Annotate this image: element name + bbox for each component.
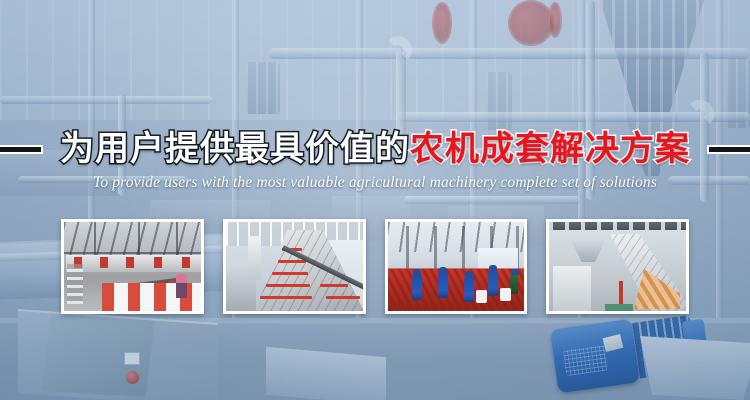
thumb4-top-band-text <box>549 222 686 230</box>
thumb3-worker <box>510 274 518 294</box>
thumb1-roof <box>64 222 201 256</box>
thumb3-worker <box>488 270 498 296</box>
thumb2-product <box>278 260 306 263</box>
page-title: 为用户提供最具价值的农机成套解决方案 <box>60 132 690 166</box>
thumb2-product <box>326 296 360 299</box>
thumbnail-elevator-conveyor[interactable] <box>546 219 689 314</box>
background-factory-photo <box>0 0 750 400</box>
thumbnail-strip <box>61 219 689 314</box>
thumb4-machine <box>553 266 591 311</box>
hero-banner: 为用户提供最具价值的农机成套解决方案 To provide users with… <box>0 0 750 400</box>
thumb1-worker <box>176 274 187 298</box>
headline-row: 为用户提供最具价值的农机成套解决方案 <box>0 124 750 174</box>
thumb1-beam <box>176 222 178 256</box>
thumb1-red-marker <box>126 257 134 268</box>
thumb1-beam <box>94 222 96 256</box>
subtitle: To provide users with the most valuable … <box>0 174 750 192</box>
thumb2-product <box>266 284 310 287</box>
headline-right-dash-icon <box>707 145 750 154</box>
thumb3-worker <box>438 272 448 298</box>
thumbnail-workers-sorting-chili[interactable] <box>385 219 528 314</box>
thumb1-rack <box>67 264 83 304</box>
thumb2-product <box>272 272 308 275</box>
thumb3-worker <box>464 276 474 302</box>
thumb1-beam <box>64 252 201 254</box>
thumb3-worker <box>412 274 422 300</box>
thumb1-red-marker <box>154 257 162 268</box>
thumb2-product <box>260 296 312 299</box>
thumb3-sack <box>500 288 511 301</box>
thumb2-product <box>320 284 348 287</box>
background-haze-overlay <box>0 0 750 400</box>
headline-white-text: 为用户提供最具价值的 <box>60 132 410 166</box>
thumbnail-inclined-conveyor[interactable] <box>223 219 366 314</box>
thumbnail-production-line-image <box>64 222 201 311</box>
thumb1-red-marker <box>100 257 108 268</box>
thumb1-red-marker <box>182 257 190 268</box>
thumbnail-elevator-conveyor-image <box>549 222 686 311</box>
thumb3-sack <box>476 290 487 303</box>
thumbnail-inclined-conveyor-image <box>226 222 363 311</box>
headline-red-text: 农机成套解决方案 <box>410 132 690 166</box>
thumb2-tower <box>248 236 261 280</box>
thumbnail-workers-sorting-chili-image <box>388 222 525 311</box>
thumb1-beam <box>138 222 140 256</box>
thumb4-green-pan <box>605 304 633 311</box>
thumb4-red-post <box>619 281 623 305</box>
thumbnail-production-line[interactable] <box>61 219 204 314</box>
headline-left-dash-icon <box>0 145 43 154</box>
